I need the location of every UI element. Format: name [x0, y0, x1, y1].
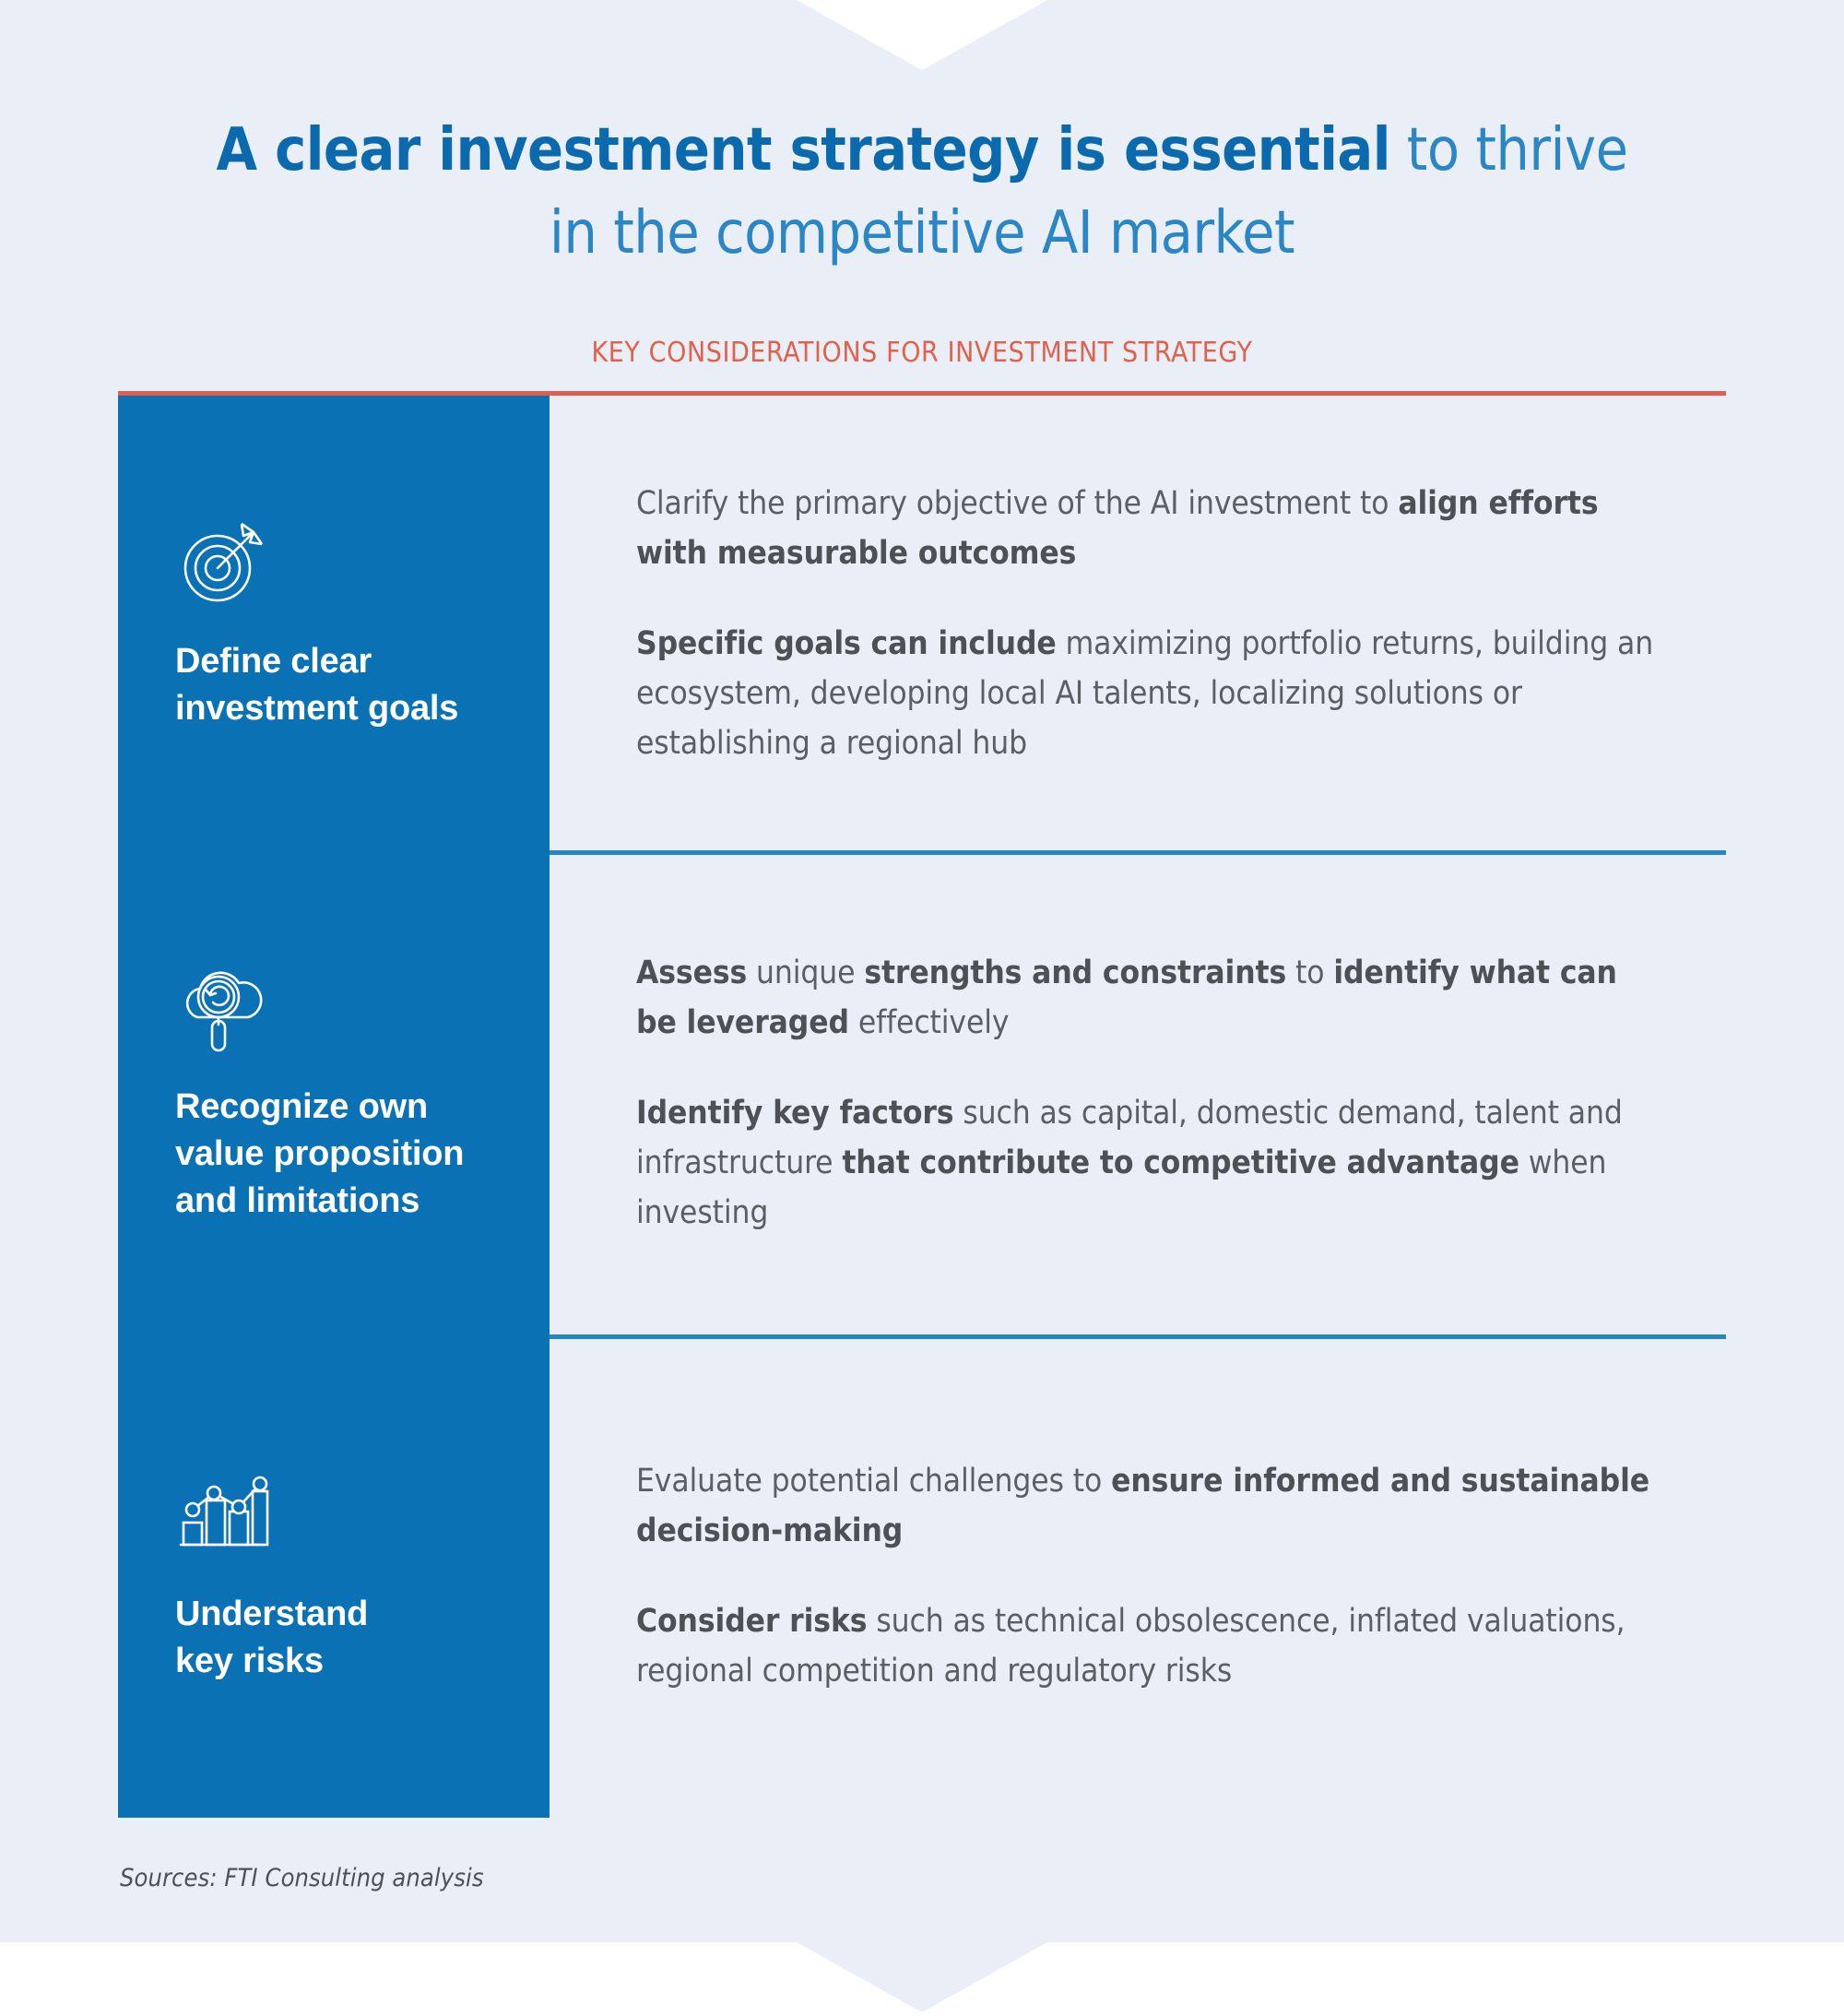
row-panel-title-line: investment goals [175, 685, 550, 732]
infographic-page: A clear investment strategy is essential… [0, 0, 1844, 2016]
row-panel-title: Define clearinvestment goals [175, 638, 550, 732]
sources-note: Sources: FTI Consulting analysis [120, 1864, 484, 1892]
consideration-row: Understandkey risks Evaluate potential c… [118, 1334, 1726, 1818]
consideration-row: Recognize ownvalue propositionand limita… [118, 850, 1726, 1334]
section-subtitle: KEY CONSIDERATIONS FOR INVESTMENT STRATE… [0, 337, 1844, 369]
row-panel-title: Recognize ownvalue propositionand limita… [175, 1084, 550, 1225]
row-panel-title-line: value proposition [175, 1131, 550, 1178]
row-body-paragraph: Specific goals can include maximizing po… [636, 619, 1665, 768]
row-body: Assess unique strengths and constraints … [550, 850, 1726, 1334]
consideration-row: Define clearinvestment goals Clarify the… [118, 396, 1726, 850]
top-chevron-triangle [797, 0, 1047, 70]
row-panel-understand-key-risks: Understandkey risks [118, 1334, 550, 1818]
emphasis-text: Consider risks [636, 1603, 867, 1640]
emphasis-text: that contribute to competitive advantage [842, 1144, 1519, 1181]
bar-chart-line-icon [175, 1467, 550, 1563]
cloud-search-refresh-icon [175, 960, 550, 1056]
row-panel-title-line: Understand [175, 1591, 550, 1638]
row-panel-title-line: Define clear [175, 638, 550, 685]
row-panel-title: Understandkey risks [175, 1591, 550, 1685]
row-panel-title-line: key risks [175, 1638, 550, 1685]
row-body: Evaluate potential challenges to ensure … [550, 1334, 1726, 1818]
row-panel-recognize-own-value-proposition: Recognize ownvalue propositionand limita… [118, 850, 550, 1334]
body-text: to [1286, 955, 1333, 991]
row-body-paragraph: Identify key factors such as capital, do… [636, 1088, 1665, 1238]
body-text: Evaluate potential challenges to [636, 1463, 1111, 1500]
target-arrow-icon [175, 515, 550, 611]
row-panel-title-line: Recognize own [175, 1084, 550, 1131]
page-header: A clear investment strategy is essential… [0, 109, 1844, 275]
body-text: Clarify the primary objective of the AI … [636, 485, 1398, 522]
row-panel-define-clear-investment-goals: Define clearinvestment goals [118, 396, 550, 850]
body-text: effectively [849, 1004, 1010, 1041]
page-title-strong: A clear investment strategy is essential [216, 116, 1390, 184]
emphasis-text: Assess [636, 955, 747, 991]
row-body-paragraph: Clarify the primary objective of the AI … [636, 479, 1665, 578]
emphasis-text: Specific goals can include [636, 625, 1057, 662]
considerations-matrix: Define clearinvestment goals Clarify the… [118, 396, 1726, 1818]
page-title-light: to thrive [1390, 116, 1628, 184]
page-title-line-1: A clear investment strategy is essential… [0, 109, 1844, 192]
row-panel-title-line: and limitations [175, 1178, 550, 1225]
body-text: unique [747, 955, 864, 991]
row-body-paragraph: Evaluate potential challenges to ensure … [636, 1456, 1665, 1556]
row-body-paragraph: Consider risks such as technical obsoles… [636, 1596, 1665, 1696]
emphasis-text: Identify key factors [636, 1095, 953, 1132]
emphasis-text: strengths and constraints [864, 955, 1286, 991]
row-body-paragraph: Assess unique strengths and constraints … [636, 948, 1665, 1048]
row-body: Clarify the primary objective of the AI … [550, 396, 1726, 850]
page-title-line-2: in the competitive AI market [0, 192, 1844, 275]
